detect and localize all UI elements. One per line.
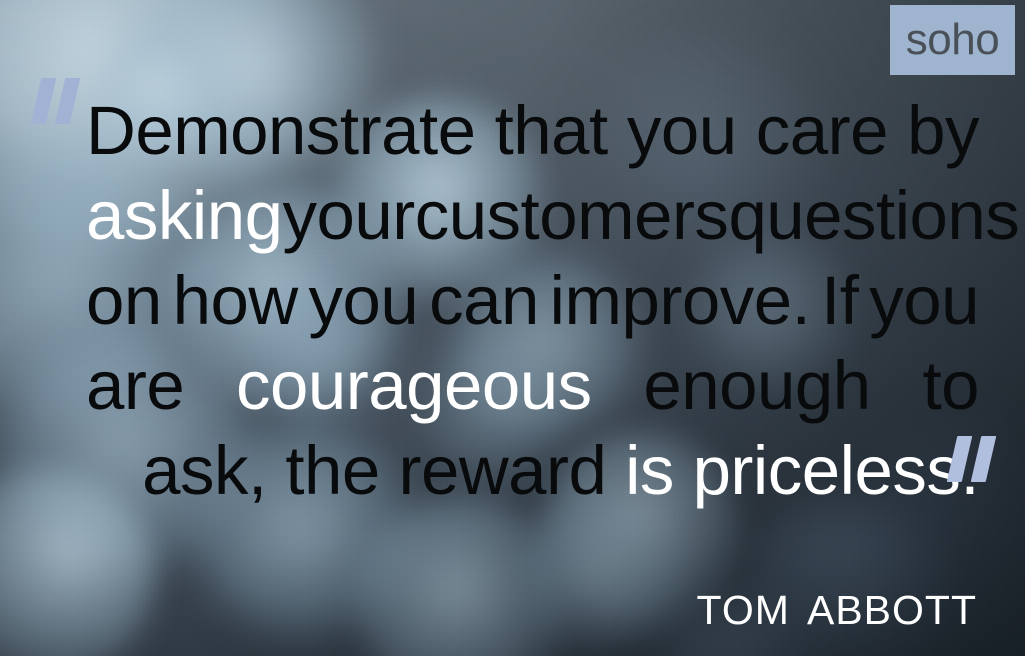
quote-word-emphasis: courageous xyxy=(236,343,592,428)
quote-word: that xyxy=(495,88,608,173)
quote-word: Demonstrate xyxy=(86,88,476,173)
opening-quote-mark xyxy=(34,78,84,126)
quote-word: If xyxy=(821,258,858,343)
quote-word: ask, the reward xyxy=(142,432,606,509)
quote-mark-glyph xyxy=(34,78,84,126)
quote-word: care xyxy=(756,88,888,173)
quote-word: to xyxy=(922,343,979,428)
quote-mark-glyph xyxy=(950,436,1000,484)
quote-graphic: soho Demonstrate that you care by asking… xyxy=(0,0,1025,656)
quote-word: you xyxy=(627,88,737,173)
quote-word: by xyxy=(907,88,979,173)
quote-word: improve. xyxy=(550,258,811,343)
quote-word: how xyxy=(173,258,298,343)
logo-wordmark: soho xyxy=(906,18,999,62)
quote-word: are xyxy=(86,343,184,428)
quote-line-5: ask, the reward is priceless. xyxy=(86,428,979,513)
quote-text: Demonstrate that you care by asking your… xyxy=(86,88,979,513)
quote-line-3: on how you can improve. If you xyxy=(86,258,979,343)
quote-line-2: asking your customers questions xyxy=(86,173,979,258)
attribution-name: Tom Abbott xyxy=(697,576,977,634)
quote-word-emphasis: is priceless. xyxy=(625,432,979,509)
closing-quote-mark xyxy=(950,436,1000,484)
quote-word: enough xyxy=(643,343,870,428)
soho-logo: soho xyxy=(890,5,1015,75)
quote-word: your xyxy=(282,173,414,258)
quote-line-4: are courageous enough to xyxy=(86,343,979,428)
quote-word: you xyxy=(869,258,979,343)
quote-line-1: Demonstrate that you care by xyxy=(86,88,979,173)
quote-word: you xyxy=(309,258,419,343)
quote-word: questions xyxy=(728,173,1019,258)
quote-word-emphasis: asking xyxy=(86,173,282,258)
quote-word: on xyxy=(86,258,162,343)
quote-word: customers xyxy=(415,173,729,258)
quote-word: can xyxy=(429,258,539,343)
